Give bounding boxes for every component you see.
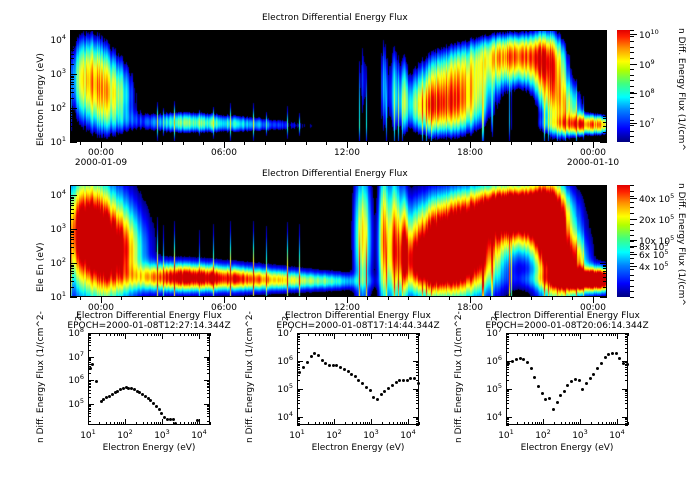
axis-tick bbox=[580, 419, 581, 425]
axis-tick bbox=[70, 126, 74, 127]
axis-tick bbox=[600, 195, 607, 196]
axis-tick bbox=[603, 48, 607, 49]
axis-tick bbox=[207, 338, 210, 339]
data-point bbox=[343, 368, 346, 371]
axis-tick bbox=[70, 253, 74, 254]
axis-tick bbox=[603, 271, 607, 272]
middle-spectrogram-plot[interactable] bbox=[70, 185, 607, 297]
axis-tick bbox=[356, 422, 357, 425]
axis-tick bbox=[326, 297, 327, 300]
axis-tick bbox=[630, 247, 634, 248]
axis-tick bbox=[517, 333, 518, 336]
axis-tick bbox=[285, 297, 286, 300]
axis-tick bbox=[389, 333, 390, 336]
axis-tick bbox=[70, 40, 77, 41]
axis-tick bbox=[598, 422, 599, 425]
axis-tick bbox=[576, 333, 577, 336]
axis-tick bbox=[184, 333, 185, 336]
x-tick-label: 12:00 bbox=[329, 148, 365, 158]
axis-tick bbox=[630, 86, 634, 87]
axis-tick bbox=[506, 365, 509, 366]
axis-tick bbox=[625, 367, 628, 368]
axis-tick bbox=[543, 419, 544, 425]
axis-tick bbox=[603, 231, 607, 232]
axis-tick bbox=[297, 419, 298, 425]
axis-tick bbox=[285, 142, 286, 145]
ylabel-overflow-0: 2- bbox=[74, 313, 83, 321]
axis-tick bbox=[88, 359, 91, 360]
axis-tick bbox=[110, 333, 111, 336]
axis-tick bbox=[625, 352, 628, 353]
axis-tick bbox=[88, 373, 91, 374]
axis-tick bbox=[315, 422, 316, 425]
axis-tick bbox=[408, 333, 409, 339]
x-tick-label: 06:00 bbox=[206, 148, 242, 158]
axis-tick bbox=[207, 409, 210, 410]
axis-tick bbox=[506, 369, 509, 370]
axis-tick bbox=[297, 408, 300, 409]
spectrum-plot-2[interactable] bbox=[297, 333, 419, 425]
axis-tick bbox=[203, 142, 204, 145]
axis-tick bbox=[162, 419, 163, 425]
axis-tick bbox=[99, 422, 100, 425]
axis-tick bbox=[506, 372, 509, 373]
axis-tick bbox=[125, 333, 126, 339]
axis-tick bbox=[408, 419, 409, 425]
top-spectrogram-plot[interactable] bbox=[70, 30, 607, 142]
axis-tick bbox=[297, 348, 300, 349]
axis-tick bbox=[606, 422, 607, 425]
axis-tick bbox=[416, 425, 419, 426]
ylabel-overflow-1: 2- bbox=[281, 313, 290, 321]
spectrum-x-tick-3: 101 bbox=[493, 428, 519, 441]
axis-tick bbox=[416, 393, 419, 394]
axis-tick bbox=[630, 92, 634, 93]
axis-tick bbox=[603, 116, 607, 117]
axis-tick bbox=[352, 333, 353, 336]
axis-tick bbox=[416, 337, 419, 338]
axis-tick bbox=[506, 397, 509, 398]
axis-tick bbox=[603, 77, 607, 78]
data-point bbox=[600, 362, 603, 365]
axis-tick bbox=[297, 403, 300, 404]
axis-tick bbox=[603, 209, 607, 210]
axis-tick bbox=[528, 333, 529, 336]
axis-tick bbox=[326, 142, 327, 145]
axis-tick bbox=[297, 372, 300, 373]
axis-tick bbox=[565, 333, 566, 336]
axis-tick bbox=[156, 333, 157, 336]
axis-tick bbox=[70, 122, 74, 123]
axis-tick bbox=[609, 333, 610, 336]
axis-tick bbox=[70, 281, 74, 282]
axis-tick bbox=[265, 297, 266, 300]
axis-tick bbox=[535, 422, 536, 425]
axis-tick bbox=[188, 422, 189, 425]
axis-tick bbox=[114, 422, 115, 425]
axis-tick bbox=[397, 333, 398, 336]
axis-tick bbox=[613, 333, 614, 336]
axis-tick bbox=[630, 207, 634, 208]
colorbar-tick-label: 109 bbox=[639, 58, 655, 71]
spectrum-plot-frame-1 bbox=[88, 333, 210, 425]
axis-tick bbox=[123, 422, 124, 425]
axis-tick bbox=[244, 142, 245, 145]
axis-tick bbox=[416, 339, 419, 340]
axis-tick bbox=[630, 142, 634, 143]
axis-tick bbox=[630, 252, 634, 253]
axis-tick bbox=[404, 333, 405, 336]
axis-tick bbox=[600, 229, 607, 230]
axis-tick bbox=[630, 191, 634, 192]
axis-tick bbox=[506, 375, 509, 376]
axis-tick bbox=[70, 266, 74, 267]
axis-tick bbox=[121, 333, 122, 336]
middle-colorbar[interactable] bbox=[617, 185, 630, 297]
axis-tick bbox=[406, 422, 407, 425]
axis-tick bbox=[160, 422, 161, 425]
axis-tick bbox=[625, 339, 628, 340]
axis-tick bbox=[397, 422, 398, 425]
axis-tick bbox=[506, 400, 509, 401]
axis-tick bbox=[199, 333, 200, 339]
spectrum-plot-3[interactable] bbox=[506, 333, 628, 425]
axis-tick bbox=[630, 224, 634, 225]
data-point bbox=[339, 366, 342, 369]
axis-tick bbox=[630, 297, 634, 298]
axis-tick bbox=[416, 369, 419, 370]
axis-tick bbox=[603, 234, 607, 235]
axis-tick bbox=[630, 275, 634, 276]
axis-tick bbox=[576, 422, 577, 425]
axis-tick bbox=[88, 342, 91, 343]
axis-tick bbox=[114, 333, 115, 336]
axis-tick bbox=[136, 333, 137, 336]
axis-tick bbox=[319, 422, 320, 425]
axis-tick bbox=[630, 280, 634, 281]
axis-tick bbox=[572, 422, 573, 425]
axis-tick bbox=[297, 400, 300, 401]
axis-tick bbox=[404, 422, 405, 425]
axis-tick bbox=[628, 422, 629, 425]
axis-tick bbox=[297, 369, 300, 370]
axis-tick bbox=[207, 387, 210, 388]
axis-tick bbox=[367, 333, 368, 336]
axis-tick bbox=[603, 42, 607, 43]
axis-tick bbox=[70, 77, 74, 78]
axis-tick bbox=[70, 198, 74, 199]
axis-tick bbox=[356, 333, 357, 336]
axis-tick bbox=[602, 422, 603, 425]
axis-tick bbox=[207, 373, 210, 374]
axis-tick bbox=[603, 239, 607, 240]
axis-tick bbox=[416, 341, 419, 342]
axis-tick bbox=[207, 408, 210, 409]
axis-tick bbox=[184, 422, 185, 425]
axis-tick bbox=[203, 297, 204, 300]
axis-tick bbox=[332, 422, 333, 425]
spectrum-x-tick-3: 102 bbox=[530, 428, 556, 441]
axis-tick bbox=[70, 203, 74, 204]
data-point bbox=[541, 392, 544, 395]
axis-tick bbox=[367, 142, 368, 145]
axis-tick bbox=[382, 333, 383, 336]
axis-tick bbox=[143, 422, 144, 425]
spectrum-plot-1[interactable] bbox=[88, 333, 210, 425]
axis-tick bbox=[539, 422, 540, 425]
axis-tick bbox=[88, 408, 91, 409]
axis-tick bbox=[330, 422, 331, 425]
y-tick-label: 102 bbox=[36, 256, 66, 269]
axis-tick bbox=[603, 268, 607, 269]
axis-tick bbox=[406, 333, 407, 336]
spectrum-x-tick-2: 101 bbox=[284, 428, 310, 441]
axis-tick bbox=[416, 367, 419, 368]
axis-tick bbox=[332, 333, 333, 336]
axis-tick bbox=[88, 411, 91, 412]
axis-tick bbox=[99, 333, 100, 336]
spectrum-x-tick-3: 103 bbox=[567, 428, 593, 441]
axis-tick bbox=[630, 52, 634, 53]
data-point bbox=[365, 386, 368, 389]
middle-panel-title: Electron Differential Energy Flux bbox=[262, 169, 408, 179]
axis-tick bbox=[625, 375, 628, 376]
axis-tick bbox=[603, 79, 607, 80]
axis-tick bbox=[625, 408, 628, 409]
axis-tick bbox=[193, 333, 194, 336]
axis-tick bbox=[625, 348, 628, 349]
axis-tick bbox=[119, 422, 120, 425]
axis-tick bbox=[506, 393, 509, 394]
axis-tick bbox=[630, 75, 634, 76]
axis-tick bbox=[70, 79, 74, 80]
axis-tick bbox=[603, 50, 607, 51]
axis-tick bbox=[603, 76, 607, 77]
axis-tick bbox=[70, 219, 74, 220]
axis-tick bbox=[630, 120, 634, 121]
data-point bbox=[522, 358, 525, 361]
axis-tick bbox=[625, 395, 628, 396]
axis-tick bbox=[565, 422, 566, 425]
spectrum-xlabel-2: Electron Energy (eV) bbox=[277, 443, 439, 453]
axis-tick bbox=[506, 419, 507, 425]
axis-tick bbox=[117, 333, 118, 336]
axis-tick bbox=[193, 422, 194, 425]
colorbar-tick-label: 107 bbox=[639, 117, 655, 130]
axis-tick bbox=[603, 247, 607, 248]
data-point bbox=[585, 382, 588, 385]
data-point bbox=[395, 381, 398, 384]
axis-tick bbox=[630, 258, 634, 259]
axis-tick bbox=[154, 422, 155, 425]
axis-tick bbox=[400, 333, 401, 336]
axis-tick bbox=[207, 381, 210, 382]
axis-tick bbox=[630, 235, 634, 236]
spectrum-xlabel-3: Electron Energy (eV) bbox=[486, 443, 648, 453]
axis-tick bbox=[603, 113, 607, 114]
colorbar-tick-label: 108 bbox=[639, 87, 655, 100]
axis-tick bbox=[210, 422, 211, 425]
axis-tick bbox=[603, 205, 607, 206]
axis-tick bbox=[173, 422, 174, 425]
axis-tick bbox=[308, 333, 309, 336]
axis-tick bbox=[625, 336, 628, 337]
axis-tick bbox=[600, 297, 607, 298]
axis-tick bbox=[617, 419, 618, 425]
x-tick-date: 2000-01-09 bbox=[73, 158, 129, 168]
axis-tick bbox=[328, 422, 329, 425]
spectrum-title-1: Electron Differential Energy Flux bbox=[33, 311, 265, 321]
axis-tick bbox=[70, 243, 74, 244]
axis-tick bbox=[630, 136, 634, 137]
axis-tick bbox=[506, 364, 509, 365]
axis-tick bbox=[615, 333, 616, 336]
axis-tick bbox=[603, 82, 607, 83]
axis-tick bbox=[603, 273, 607, 274]
axis-tick bbox=[88, 405, 91, 406]
data-point bbox=[530, 367, 533, 370]
axis-tick bbox=[602, 333, 603, 336]
axis-tick bbox=[506, 344, 509, 345]
x-tick-label: 00:00 bbox=[83, 148, 119, 158]
axis-tick bbox=[142, 297, 143, 300]
axis-tick bbox=[537, 333, 538, 336]
axis-tick bbox=[207, 386, 210, 387]
axis-tick bbox=[207, 358, 210, 359]
axis-tick bbox=[297, 333, 298, 339]
axis-tick bbox=[416, 348, 419, 349]
spectrum-y-tick-1: 107 bbox=[58, 350, 84, 363]
axis-tick bbox=[369, 333, 370, 336]
axis-tick bbox=[88, 397, 91, 398]
axis-tick bbox=[541, 422, 542, 425]
axis-tick bbox=[70, 50, 74, 51]
axis-tick bbox=[511, 297, 512, 300]
axis-tick bbox=[531, 142, 532, 145]
axis-tick bbox=[70, 268, 74, 269]
axis-tick bbox=[625, 362, 628, 363]
axis-tick bbox=[578, 422, 579, 425]
axis-tick bbox=[416, 395, 419, 396]
axis-tick bbox=[506, 403, 509, 404]
axis-tick bbox=[306, 142, 307, 145]
axis-tick bbox=[70, 108, 77, 109]
axis-tick bbox=[88, 384, 91, 385]
axis-tick bbox=[506, 380, 509, 381]
axis-tick bbox=[207, 397, 210, 398]
axis-tick bbox=[535, 333, 536, 336]
axis-tick bbox=[569, 333, 570, 336]
axis-tick bbox=[506, 408, 509, 409]
axis-tick bbox=[630, 291, 634, 292]
axis-tick bbox=[345, 422, 346, 425]
axis-tick bbox=[207, 390, 210, 391]
axis-tick bbox=[524, 422, 525, 425]
axis-tick bbox=[70, 209, 74, 210]
spectrum-ylabel-text-1: n Diff. Energy Flux (1/(cm^2- bbox=[36, 311, 46, 443]
axis-tick bbox=[506, 348, 509, 349]
axis-tick bbox=[506, 362, 509, 363]
axis-tick bbox=[528, 422, 529, 425]
axis-tick bbox=[625, 419, 628, 420]
spectrum-x-tick-1: 104 bbox=[186, 428, 212, 441]
axis-tick bbox=[207, 411, 210, 412]
axis-tick bbox=[630, 254, 637, 255]
axis-tick bbox=[88, 393, 91, 394]
axis-tick bbox=[297, 362, 300, 363]
data-point bbox=[350, 373, 353, 376]
axis-tick bbox=[630, 213, 634, 214]
data-point bbox=[111, 393, 114, 396]
axis-tick bbox=[297, 391, 300, 392]
spectrum-ylabel-text-2: n Diff. Energy Flux (1/(cm^2- bbox=[245, 311, 255, 443]
axis-tick bbox=[630, 58, 634, 59]
axis-tick bbox=[603, 277, 607, 278]
y-tick-label: 101 bbox=[36, 290, 66, 303]
x-tick-label: 18:00 bbox=[452, 148, 488, 158]
axis-tick bbox=[603, 203, 607, 204]
data-point bbox=[321, 359, 324, 362]
data-point bbox=[332, 364, 335, 367]
axis-tick bbox=[183, 297, 184, 300]
axis-tick bbox=[70, 118, 74, 119]
middle-plot-frame bbox=[70, 185, 607, 297]
axis-tick bbox=[531, 297, 532, 300]
axis-tick bbox=[603, 54, 607, 55]
data-point bbox=[158, 408, 161, 411]
axis-tick bbox=[156, 422, 157, 425]
axis-tick bbox=[151, 333, 152, 336]
data-point bbox=[310, 355, 313, 358]
axis-tick bbox=[88, 413, 91, 414]
top-colorbar[interactable] bbox=[617, 30, 630, 142]
axis-tick bbox=[88, 419, 89, 425]
axis-tick bbox=[402, 422, 403, 425]
axis-tick bbox=[603, 281, 607, 282]
axis-tick bbox=[625, 397, 628, 398]
axis-tick bbox=[572, 142, 573, 145]
ylabel-overflow-2: 2- bbox=[490, 313, 499, 321]
axis-tick bbox=[603, 111, 607, 112]
axis-tick bbox=[88, 390, 91, 391]
axis-tick bbox=[191, 333, 192, 336]
spectrum-xlabel-1: Electron Energy (eV) bbox=[68, 443, 230, 453]
data-point bbox=[155, 405, 158, 408]
axis-tick bbox=[328, 333, 329, 336]
axis-tick bbox=[416, 400, 419, 401]
axis-tick bbox=[603, 126, 607, 127]
axis-tick bbox=[625, 365, 628, 366]
axis-tick bbox=[110, 422, 111, 425]
axis-tick bbox=[70, 88, 74, 89]
axis-tick bbox=[151, 422, 152, 425]
axis-tick bbox=[70, 82, 74, 83]
axis-tick bbox=[334, 419, 335, 425]
axis-tick bbox=[207, 362, 210, 363]
axis-tick bbox=[603, 84, 607, 85]
axis-tick bbox=[207, 345, 210, 346]
axis-tick bbox=[630, 97, 634, 98]
axis-tick bbox=[369, 422, 370, 425]
axis-tick bbox=[603, 88, 607, 89]
axis-tick bbox=[603, 243, 607, 244]
axis-tick bbox=[207, 342, 210, 343]
axis-tick bbox=[630, 219, 634, 220]
data-point bbox=[417, 382, 420, 385]
axis-tick bbox=[297, 393, 300, 394]
axis-tick bbox=[360, 422, 361, 425]
axis-tick bbox=[524, 333, 525, 336]
